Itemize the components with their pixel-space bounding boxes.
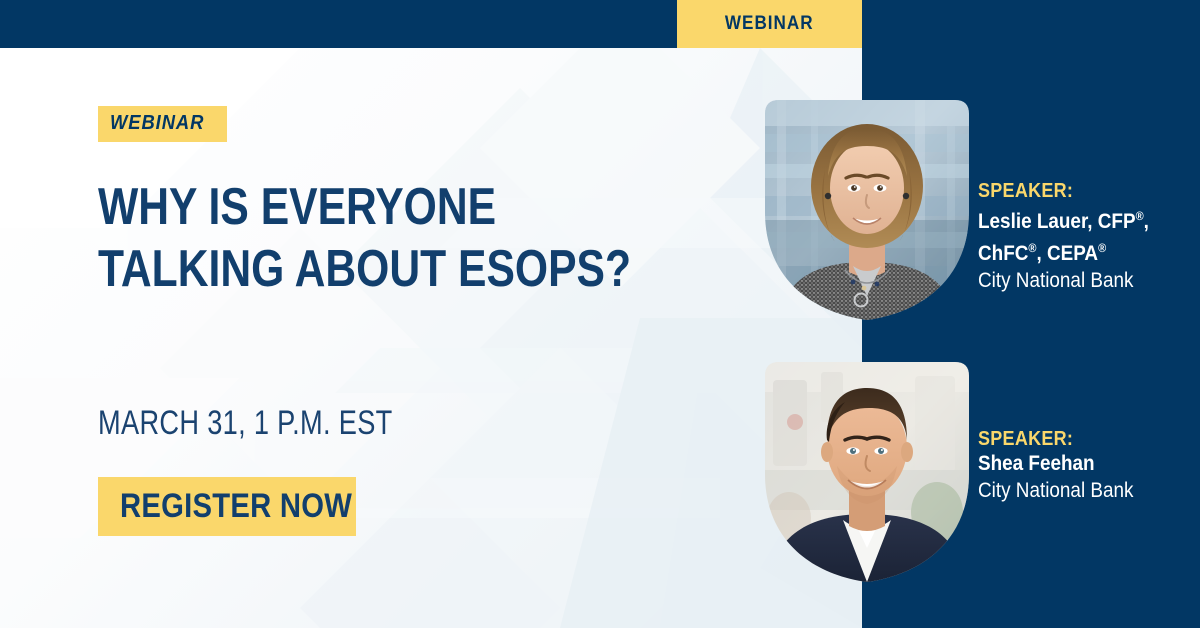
speaker-1-label: SPEAKER: — [978, 180, 1149, 203]
speaker-2-info: SPEAKER: Shea Feehan City National Bank — [978, 428, 1151, 504]
speaker-2-organization: City National Bank — [978, 477, 1133, 504]
topbar-webinar-tab: WEBINAR — [677, 0, 862, 48]
speaker-1-info: SPEAKER: Leslie Lauer, CFP®, ChFC®, CEPA… — [978, 180, 1168, 294]
webinar-badge-label: WEBINAR — [110, 112, 204, 135]
speaker-1-photo — [765, 100, 969, 320]
headline-line-2: TALKING ABOUT ESOPS? — [98, 238, 623, 300]
headline-line-1: WHY IS EVERYONE — [98, 176, 623, 238]
speaker-2-name: Shea Feehan — [978, 451, 1133, 477]
page-title: WHY IS EVERYONE TALKING ABOUT ESOPS? — [98, 176, 738, 300]
webinar-promo-graphic: WEBINAR WEBINAR WHY IS EVERYONE TALKING … — [0, 0, 1200, 628]
register-now-button[interactable]: REGISTER NOW — [98, 477, 356, 536]
speaker-1-name-line-1: Leslie Lauer, CFP®, — [978, 203, 1149, 235]
event-datetime: MARCH 31, 1 P.M. EST — [98, 404, 466, 443]
speaker-1-name-line-2: ChFC®, CEPA® — [978, 235, 1149, 267]
event-datetime-text: MARCH 31, 1 P.M. EST — [98, 404, 393, 443]
speaker-2-label: SPEAKER: — [978, 428, 1133, 451]
top-navy-bar — [0, 0, 1200, 48]
speaker-2-photo — [765, 362, 969, 582]
register-now-label: REGISTER NOW — [120, 487, 352, 526]
webinar-badge: WEBINAR — [98, 106, 227, 142]
speaker-1-organization: City National Bank — [978, 267, 1149, 294]
topbar-webinar-tab-label: WEBINAR — [725, 13, 814, 35]
